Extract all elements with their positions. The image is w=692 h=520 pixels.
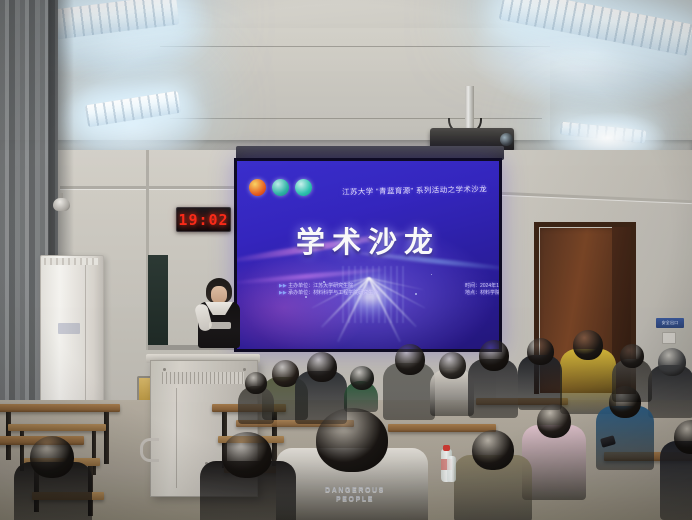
classroom-photo: 安全出口 — [0, 0, 692, 520]
slide-title: 学术沙龙 — [237, 219, 499, 261]
student-black-hair-r — [468, 340, 518, 418]
ceiling-seam-2 — [170, 118, 542, 119]
student-back-row-b — [238, 372, 274, 424]
presenter-shirt-print — [209, 322, 231, 329]
person-head — [658, 348, 686, 376]
person-head — [479, 340, 509, 371]
cabinet-label-sticker — [58, 323, 80, 334]
student-green-cap — [344, 366, 378, 412]
organizer-logo-teal-2-icon — [295, 179, 312, 196]
person-head — [222, 432, 272, 478]
cabinet-vent — [44, 258, 98, 265]
presentation-slide: 江苏大学 “青蓝育源” 系列活动之学术沙龙 学术沙龙 ▶▶ 主办单位：江苏大学研… — [237, 161, 499, 349]
student-cap-right — [648, 348, 692, 418]
led-wall-clock: 19:02 — [176, 207, 231, 232]
tshirt-line-2: PEOPLE — [300, 495, 410, 504]
organizer-logo-red-icon — [249, 179, 266, 196]
person-head — [527, 338, 554, 365]
power-outlet[interactable] — [662, 332, 676, 344]
exit-sign-label: 安全出口 — [657, 319, 683, 327]
led-clock-time: 19:02 — [178, 211, 228, 229]
person-head — [350, 366, 374, 390]
lectern-screw — [163, 368, 166, 371]
water-bottle-second[interactable] — [447, 456, 456, 482]
person-head — [573, 330, 603, 360]
person-head — [316, 408, 388, 472]
person-head — [30, 436, 74, 478]
person-head — [307, 352, 337, 382]
projection-screen: 江苏大学 “青蓝育源” 系列活动之学术沙龙 学术沙龙 ▶▶ 主办单位：江苏大学研… — [234, 158, 502, 352]
person-head — [537, 404, 571, 438]
lectern-vent — [162, 372, 244, 384]
blackboard-left-edge — [148, 255, 168, 347]
bench-seat — [8, 424, 106, 431]
lectern-seam — [176, 388, 177, 488]
student-dark-shirt-far — [518, 338, 562, 410]
slide-organizer-logos — [249, 179, 312, 196]
ceiling-seam — [160, 46, 550, 47]
slide-footer-left: ▶▶ 主办单位：江苏大学研究生院 ▶▶ 承办单位：材料科学与工程学院研究生会 — [279, 283, 459, 297]
footer-bullet-icon-2: ▶▶ — [279, 290, 287, 296]
slide-footer-time: 时间：2024年11月20日 — [465, 283, 502, 290]
footer-bullet-icon: ▶▶ — [279, 283, 287, 289]
projector-lens-icon — [500, 133, 513, 146]
white-cabinet — [40, 255, 104, 422]
water-bottle-cap[interactable] — [443, 445, 450, 451]
slide-footer-right: 时间：2024年11月20日 地点：材料学院报告厅 — [465, 283, 502, 297]
organizer-logo-teal-1-icon — [272, 179, 289, 196]
slide-footer-host: 承办单位：材料科学与工程学院研究生会 — [288, 290, 378, 296]
slide-dot — [431, 274, 433, 276]
person-head — [245, 372, 267, 394]
slide-footer-organizer: 主办单位：江苏大学研究生院 — [288, 283, 353, 289]
student-back-row-a — [612, 344, 652, 402]
person-head — [620, 344, 644, 368]
person-head — [472, 430, 514, 470]
student-khaki-front — [454, 430, 532, 520]
security-camera-icon — [53, 198, 70, 211]
tshirt-print-text: DANGEROUS PEOPLE — [300, 486, 410, 504]
slide-footer-place: 地点：材料学院报告厅 — [465, 290, 502, 297]
presenter-at-podium — [196, 278, 242, 356]
tshirt-line-1: DANGEROUS — [300, 486, 410, 495]
person-head — [439, 352, 466, 379]
cabinet-seam — [85, 265, 86, 415]
student-black-far-left — [14, 436, 92, 520]
slide-header-text: 江苏大学 “青蓝育源” 系列活动之学术沙龙 — [342, 183, 487, 197]
student-navy-right-edge — [660, 420, 692, 520]
desk-leg — [104, 412, 109, 464]
desk-top — [0, 404, 120, 412]
person-head — [395, 344, 425, 375]
lectern-cable — [140, 438, 159, 462]
student-dark-left-front — [200, 432, 296, 520]
lectern-screw — [243, 368, 246, 371]
